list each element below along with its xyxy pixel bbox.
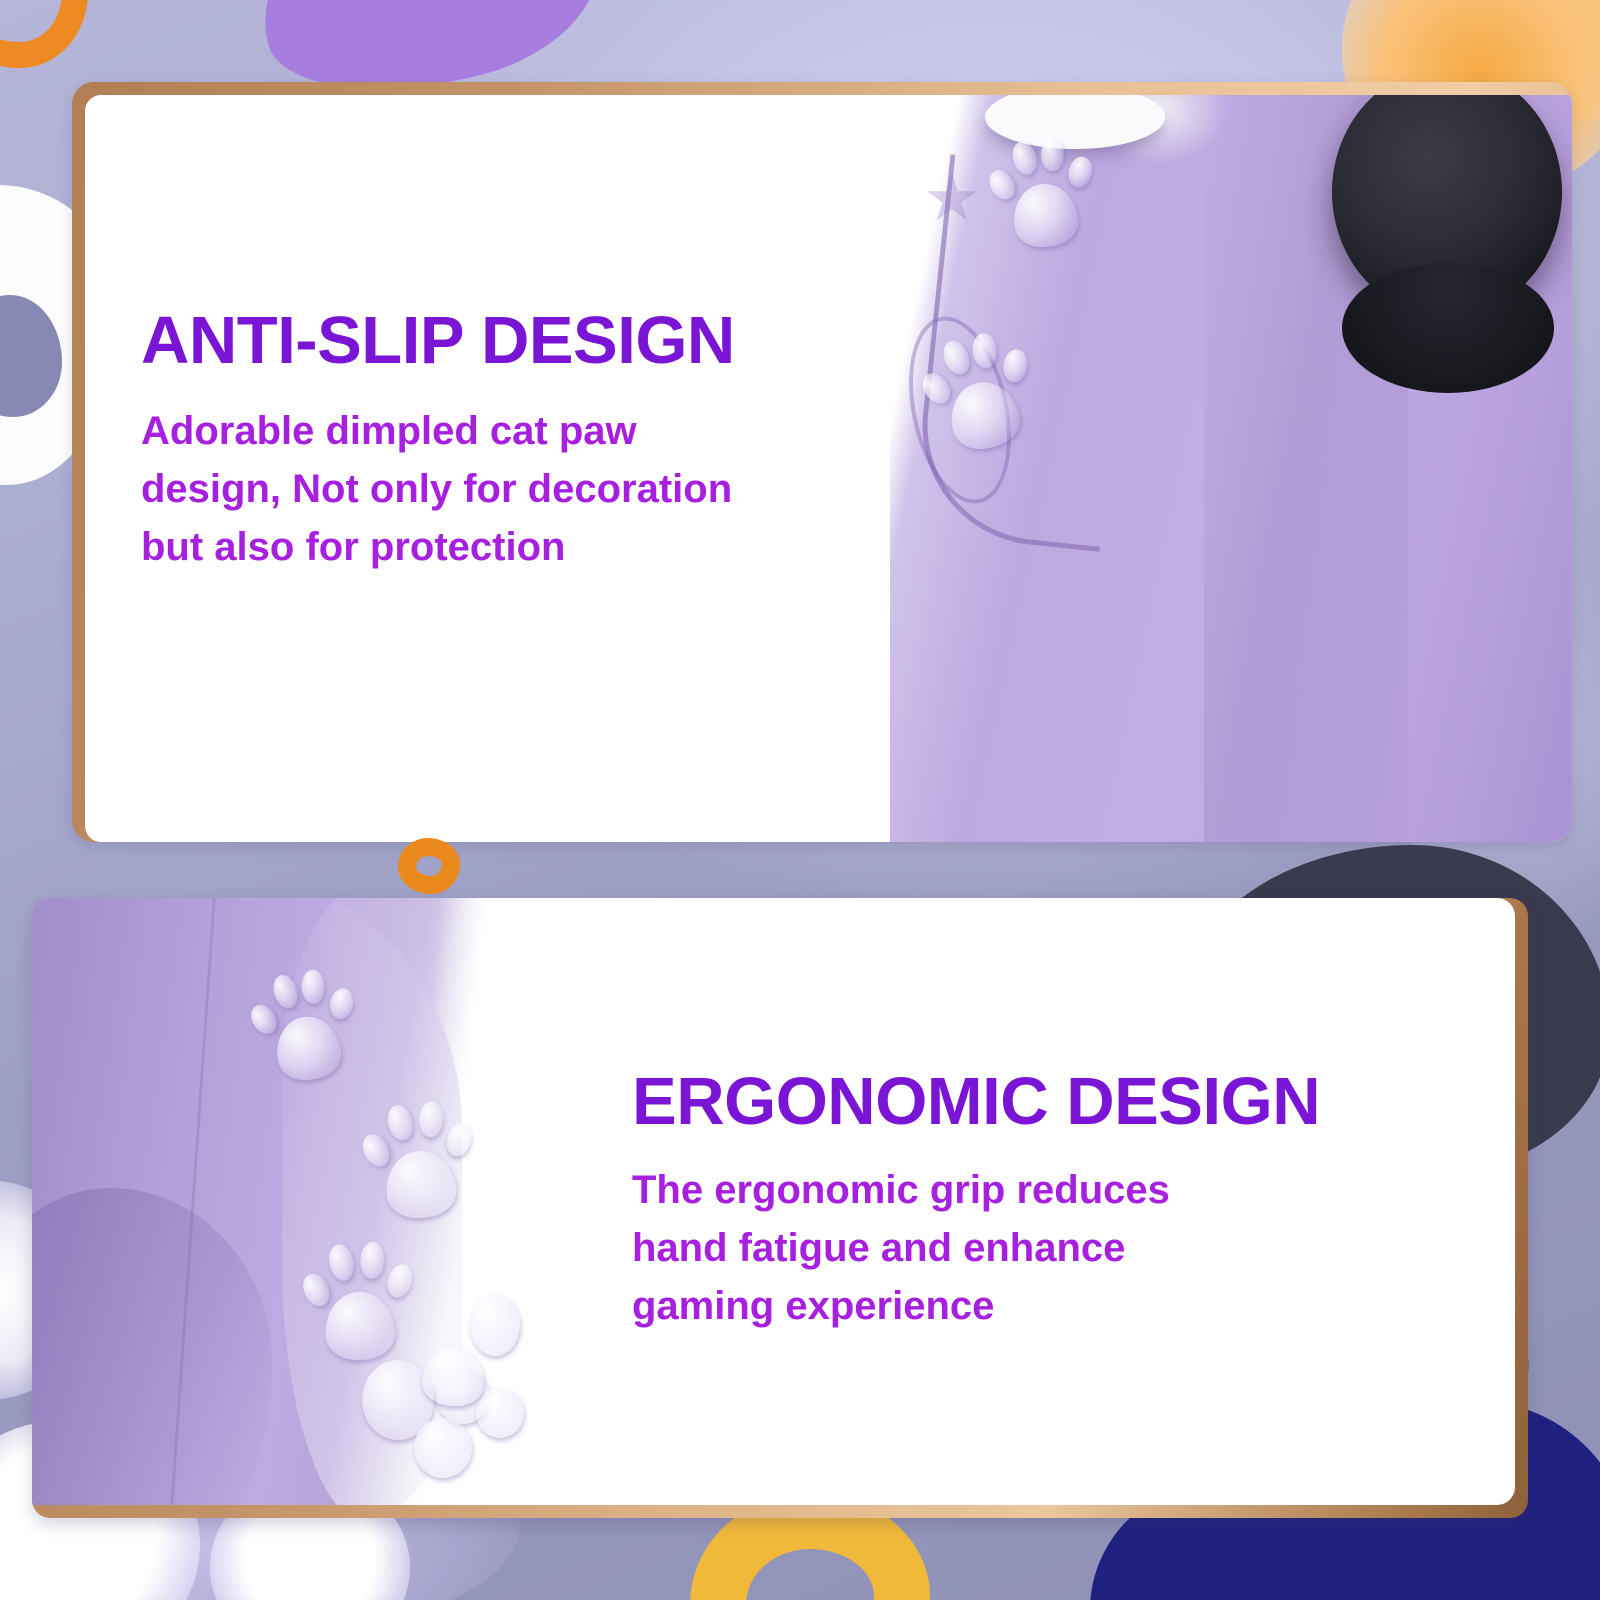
product-photo-ergonomic [32,898,552,1505]
body-text-anti-slip: Adorable dimpled cat paw design, Not onl… [141,402,890,576]
body-line: Adorable dimpled cat paw [141,402,890,460]
thumbstick-base [1342,263,1554,393]
paw-pad [271,1012,346,1085]
body-line: The ergonomic grip reduces [632,1161,1515,1219]
body-line: gaming experience [632,1277,1515,1335]
paw-toe [418,1101,444,1138]
feature-card-ergonomic: ERGONOMIC DESIGN The ergonomic grip redu… [32,898,1528,1518]
product-photo-anti-slip [890,95,1572,842]
paw-print-emboss [981,128,1104,254]
paw-toe [1041,138,1064,172]
orange-ring-connector-icon [398,838,460,894]
body-line: design, Not only for decoration [141,460,890,518]
paw-toe [326,1242,357,1283]
paw-toe [327,986,356,1021]
paw-toe [1001,348,1029,384]
paw-print-emboss [241,959,367,1088]
paw-pad [383,1147,459,1221]
paw-print-emboss [296,1234,420,1364]
paw-toe [443,1120,476,1159]
grip-dimple [414,1418,472,1478]
paw-print-emboss [399,1293,514,1411]
body-text-ergonomic: The ergonomic grip reduces hand fatigue … [632,1161,1515,1335]
paw-pad [323,1289,397,1362]
headline-ergonomic: ERGONOMIC DESIGN [632,1068,1515,1135]
paw-toe [357,1130,394,1171]
paw-toe [298,1269,335,1310]
paw-pad [419,1342,487,1409]
paw-toe [971,332,998,370]
paw-pad [1009,180,1082,251]
body-line: hand fatigue and enhance [632,1219,1515,1277]
text-pane-anti-slip: ANTI-SLIP DESIGN Adorable dimpled cat pa… [85,95,890,842]
paw-toe [301,970,325,1004]
paw-toe [270,972,302,1011]
paw-toe [985,166,1020,204]
text-pane-ergonomic: ERGONOMIC DESIGN The ergonomic grip redu… [552,898,1515,1505]
paw-toe [939,337,974,379]
paw-toe [1065,154,1095,190]
paw-toe [246,1000,282,1039]
card-inner-ergonomic: ERGONOMIC DESIGN The ergonomic grip redu… [32,898,1515,1505]
paw-toe [917,368,955,409]
paw-toe [359,1241,386,1279]
paw-toe [385,1102,417,1143]
paw-print-emboss [354,1092,482,1223]
feature-card-anti-slip: ANTI-SLIP DESIGN Adorable dimpled cat pa… [72,82,1572,842]
paw-toe [1009,139,1040,178]
card-inner-anti-slip: ANTI-SLIP DESIGN Adorable dimpled cat pa… [85,95,1572,842]
body-line: but also for protection [141,518,890,576]
headline-anti-slip: ANTI-SLIP DESIGN [141,307,890,374]
